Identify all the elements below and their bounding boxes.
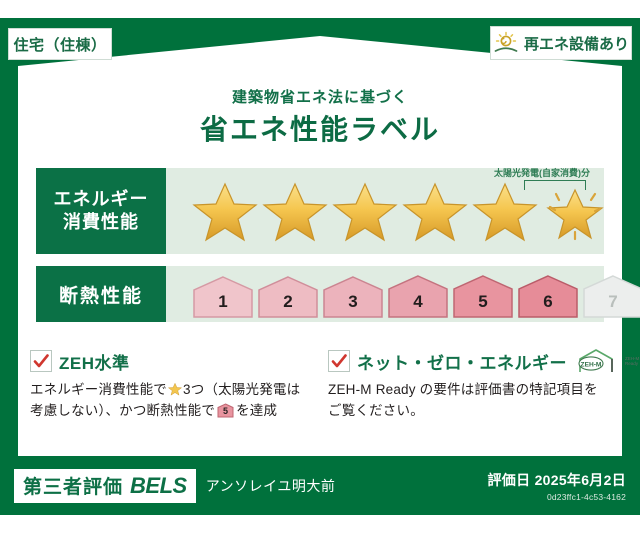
evaluation-date-value: 2025年6月2日: [535, 472, 626, 488]
label-title: 省エネ性能ラベル: [0, 108, 640, 148]
renewable-equipment-tag: 再エネ設備あり: [490, 26, 632, 60]
grade-house-3: 3: [322, 275, 384, 319]
energy-performance-label-box: エネルギー 消費性能: [36, 168, 166, 254]
star-5: [472, 180, 538, 242]
grade-number-5: 5: [452, 292, 514, 312]
star-3: [332, 180, 398, 242]
star-2: [262, 180, 328, 242]
star-1: [192, 180, 258, 242]
inline-grade-badge: 5: [217, 403, 234, 418]
star-rating: 太陽光発電(自家消費)分: [166, 168, 608, 254]
check-icon: [30, 350, 52, 372]
insulation-grade-scale: 1 2 3 4 5 6 7: [166, 263, 640, 325]
solar-note-label: 太陽光発電(自家消費)分: [494, 166, 590, 179]
bels-logo: 第三者評価 BELS: [14, 469, 196, 503]
label-subtitle: 建築物省エネ法に基づく: [0, 86, 640, 107]
check-icon: [328, 350, 350, 372]
note-zeh-text-1: エネルギー消費性能で: [30, 382, 167, 397]
note-zeh-header: ZEH水準: [30, 348, 312, 374]
energy-label-line1: エネルギー: [54, 188, 149, 211]
inline-star-icon: [168, 382, 182, 396]
insulation-label: 断熱性能: [59, 281, 143, 308]
grade-number-7: 7: [582, 292, 640, 312]
notes-row: ZEH水準 エネルギー消費性能で3つ（太陽光発電は考慮しない）、かつ断熱性能で5…: [30, 348, 610, 440]
note-zeh-text-2: 3つ（太陽光発電: [183, 382, 287, 397]
note-zeh-standard: ZEH水準 エネルギー消費性能で3つ（太陽光発電は考慮しない）、かつ断熱性能で5…: [30, 348, 312, 440]
building-type-tag: 住宅（住棟）: [8, 28, 112, 60]
grade-house-6: 6: [517, 275, 579, 319]
grade-number-4: 4: [387, 292, 449, 312]
building-type-label: 住宅（住棟）: [13, 34, 106, 55]
note-zeh-title: ZEH水準: [59, 349, 130, 374]
sun-solar-icon: [493, 31, 519, 55]
note-nze-header: ネット・ゼロ・エネルギー ZEH-M ZEH-M Ready: [328, 348, 610, 374]
star-6-solar: [542, 180, 608, 242]
bels-jp-label: 第三者評価: [23, 472, 123, 499]
grade-number-3: 3: [322, 292, 384, 312]
zeh-m-side-line2: Ready: [625, 361, 638, 366]
star-4: [402, 180, 468, 242]
note-net-zero-energy: ネット・ゼロ・エネルギー ZEH-M ZEH-M Ready ZEH-M Rea…: [328, 348, 610, 440]
inline-grade-number: 5: [217, 404, 234, 418]
footer-bar: 第三者評価 BELS アンソレイユ明大前 評価日 2025年6月2日 0d23f…: [0, 456, 640, 515]
energy-label-line2: 消費性能: [63, 211, 139, 234]
note-nze-body: ZEH-M Ready の要件は評価書の特記項目をご覧ください。: [328, 380, 610, 422]
energy-performance-label: 住宅（住棟） 再エネ設備あり 建築物省エネ法に基づく 省エネ性能ラベル エネルギ…: [0, 0, 640, 533]
zeh-m-logo-side-text: ZEH-M Ready: [625, 356, 639, 366]
insulation-performance-label-box: 断熱性能: [36, 266, 166, 322]
energy-performance-panel: エネルギー 消費性能 太陽光発電(自家消費)分: [36, 168, 604, 254]
evaluation-date-label: 評価日: [487, 472, 530, 488]
building-name: アンソレイユ明大前: [206, 476, 488, 496]
evaluation-id: 0d23ffc1-4c53-4162: [487, 492, 626, 502]
grade-house-7: 7: [582, 275, 640, 319]
grade-number-2: 2: [257, 292, 319, 312]
grade-house-1: 1: [192, 275, 254, 319]
grade-house-5: 5: [452, 275, 514, 319]
evaluation-date: 評価日 2025年6月2日: [487, 470, 626, 490]
evaluation-info: 評価日 2025年6月2日 0d23ffc1-4c53-4162: [487, 470, 626, 502]
svg-text:ZEH-M: ZEH-M: [581, 361, 602, 368]
renewable-equipment-label: 再エネ設備あり: [524, 33, 629, 54]
zeh-m-logo-icon: ZEH-M: [574, 348, 618, 374]
insulation-performance-panel: 断熱性能 1 2 3 4 5: [36, 266, 604, 322]
note-zeh-body: エネルギー消費性能で3つ（太陽光発電は考慮しない）、かつ断熱性能で5を達成: [30, 380, 312, 422]
grade-house-4: 4: [387, 275, 449, 319]
note-nze-title: ネット・ゼロ・エネルギー: [357, 349, 567, 374]
note-zeh-text-4: を達成: [236, 403, 277, 418]
grade-house-2: 2: [257, 275, 319, 319]
bels-en-label: BELS: [130, 473, 187, 499]
grade-number-1: 1: [192, 292, 254, 312]
grade-number-6: 6: [517, 292, 579, 312]
